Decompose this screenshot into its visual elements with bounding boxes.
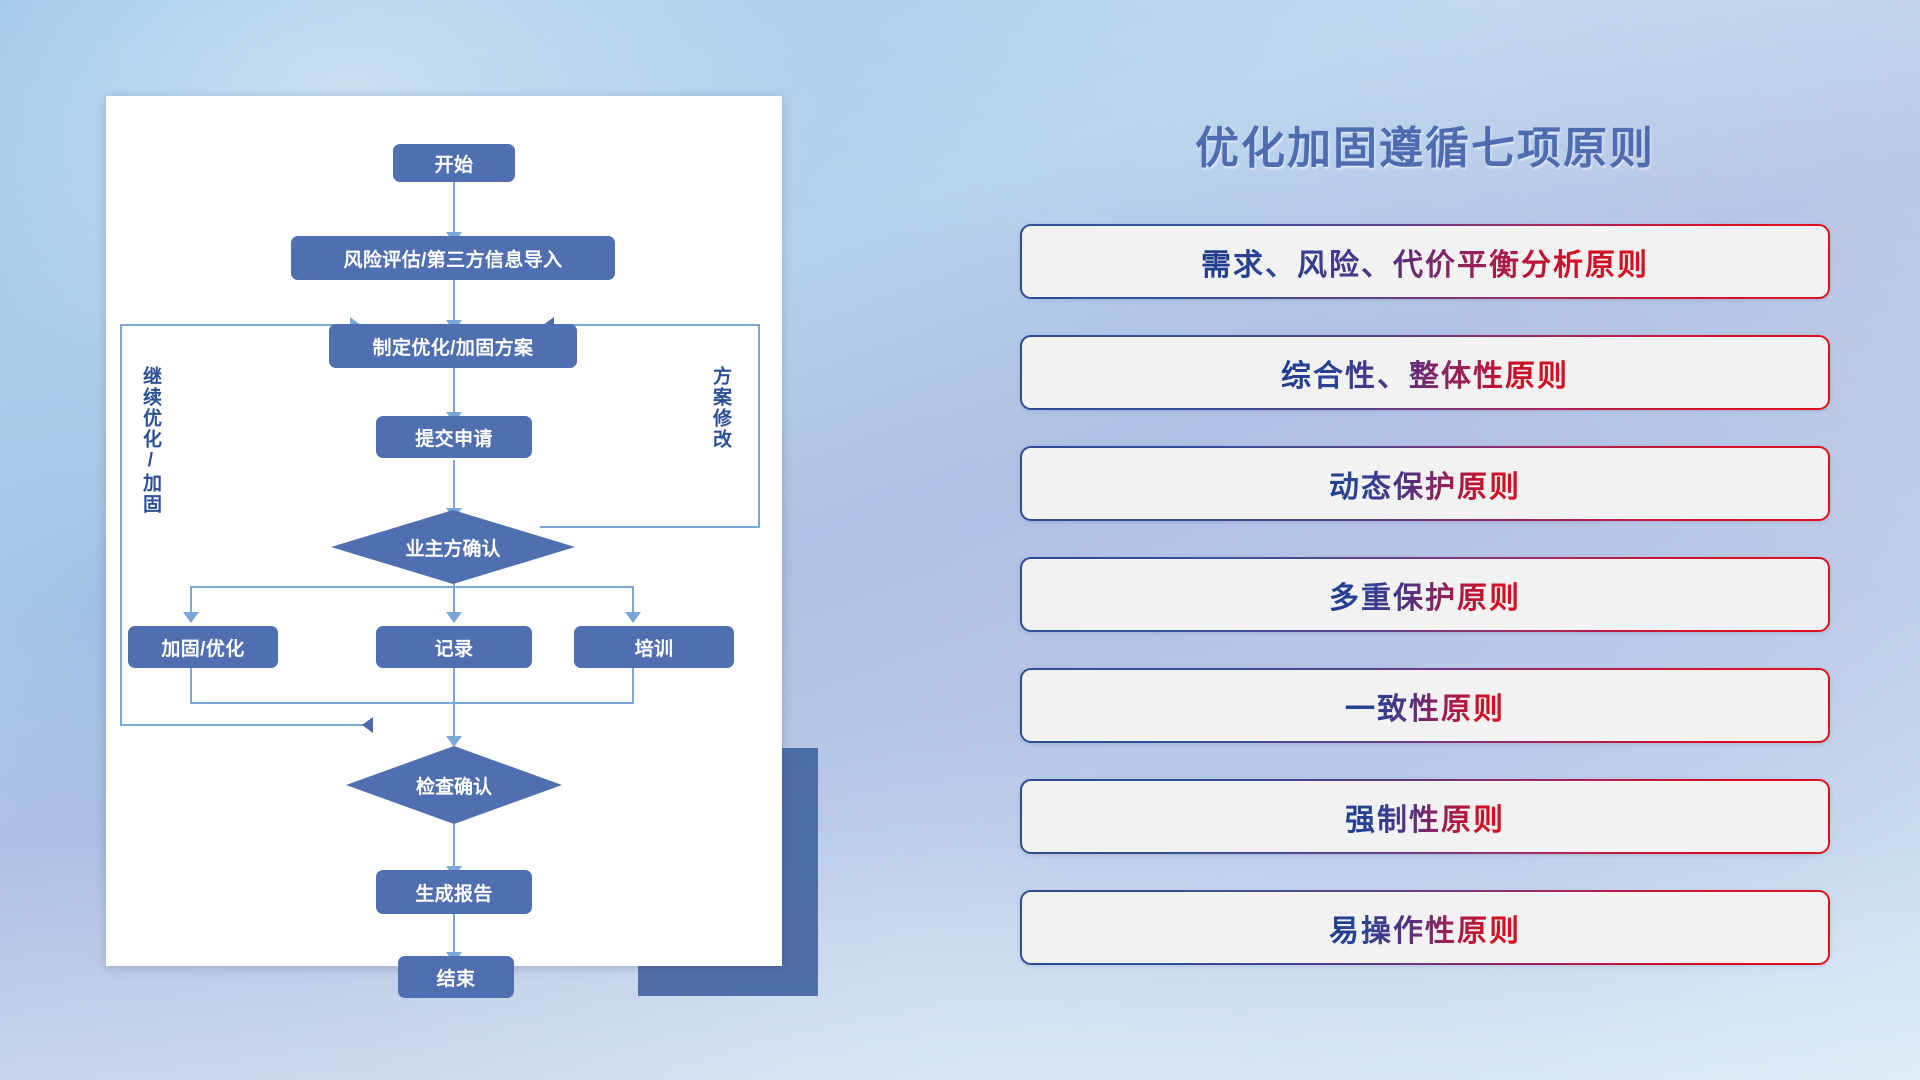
connector-start-to-risk xyxy=(453,180,455,236)
connector-left-to-plan xyxy=(120,324,352,326)
flow-node-label: 记录 xyxy=(435,634,474,661)
connector-submit-to-owner xyxy=(453,460,455,512)
flow-node-label: 提交申请 xyxy=(415,424,493,451)
connector-right-to-plan xyxy=(554,324,760,326)
flow-node-owner-confirm[interactable]: 业主方确认 xyxy=(331,510,575,584)
principle-card[interactable]: 一致性原则 xyxy=(1020,668,1830,743)
edge-label-continue-optimize: 继续优化/加固 xyxy=(140,366,160,515)
flow-node-risk-assessment[interactable]: 风险评估/第三方信息导入 xyxy=(291,236,615,280)
principles-list: 需求、风险、代价平衡分析原则 综合性、整体性原则 动态保护原则 多重保护原则 一… xyxy=(1020,224,1830,1001)
flow-node-label: 培训 xyxy=(635,634,674,661)
page-title: 优化加固遵循七项原则 xyxy=(1020,112,1830,176)
principle-label: 多重保护原则 xyxy=(1329,573,1521,617)
arrowhead-record xyxy=(446,612,462,623)
flow-node-label: 制定优化/加固方案 xyxy=(373,333,534,360)
flow-node-reinforce-optimize[interactable]: 加固/优化 xyxy=(128,626,278,668)
flow-node-start[interactable]: 开始 xyxy=(393,144,515,182)
connector-branch-bus xyxy=(190,586,634,588)
connector-check-left xyxy=(120,724,364,726)
principle-card[interactable]: 需求、风险、代价平衡分析原则 xyxy=(1020,224,1830,299)
flow-node-label: 加固/优化 xyxy=(161,634,244,661)
edge-label-plan-revision: 方案修改 xyxy=(710,366,730,450)
principle-label: 易操作性原则 xyxy=(1329,906,1521,950)
arrowhead-training xyxy=(625,612,641,623)
principle-card[interactable]: 综合性、整体性原则 xyxy=(1020,335,1830,410)
principle-label: 动态保护原则 xyxy=(1329,462,1521,506)
connector-right-up xyxy=(758,324,760,528)
principle-label: 一致性原则 xyxy=(1345,684,1505,728)
principle-label: 强制性原则 xyxy=(1345,795,1505,839)
connector-training-down xyxy=(632,666,634,704)
connector-merge-bus xyxy=(190,702,634,704)
connector-left-up xyxy=(120,324,122,724)
connector-check-to-report xyxy=(453,822,455,870)
flow-node-training[interactable]: 培训 xyxy=(574,626,734,668)
connector-plan-to-submit xyxy=(453,368,455,416)
flow-node-label: 结束 xyxy=(437,964,476,991)
principle-label: 综合性、整体性原则 xyxy=(1281,351,1569,395)
connector-risk-to-plan xyxy=(453,276,455,324)
principle-card[interactable]: 多重保护原则 xyxy=(1020,557,1830,632)
arrowhead-check-left xyxy=(362,717,373,733)
principle-label: 需求、风险、代价平衡分析原则 xyxy=(1201,240,1649,284)
connector-report-to-end xyxy=(453,914,455,956)
flow-node-label: 检查确认 xyxy=(416,772,492,799)
flow-node-submit-application[interactable]: 提交申请 xyxy=(376,416,532,458)
arrowhead-reinforce xyxy=(183,612,199,623)
connector-reinforce-down xyxy=(190,666,192,704)
flow-node-label: 开始 xyxy=(435,150,474,177)
flow-node-plan[interactable]: 制定优化/加固方案 xyxy=(329,324,577,368)
flow-node-end[interactable]: 结束 xyxy=(398,956,514,998)
flowchart-panel: 开始 风险评估/第三方信息导入 制定优化/加固方案 提交申请 业主方确认 加固/… xyxy=(106,96,782,966)
principles-panel: 优化加固遵循七项原则 需求、风险、代价平衡分析原则 综合性、整体性原则 动态保护… xyxy=(1020,96,1830,996)
principle-card[interactable]: 动态保护原则 xyxy=(1020,446,1830,521)
connector-merge-to-check xyxy=(453,702,455,740)
flow-node-check-confirm[interactable]: 检查确认 xyxy=(346,746,562,824)
flow-node-generate-report[interactable]: 生成报告 xyxy=(376,870,532,914)
principle-card[interactable]: 强制性原则 xyxy=(1020,779,1830,854)
flow-node-label: 业主方确认 xyxy=(405,534,500,561)
flow-node-label: 风险评估/第三方信息导入 xyxy=(343,245,562,272)
flow-node-label: 生成报告 xyxy=(415,879,493,906)
flow-node-record[interactable]: 记录 xyxy=(376,626,532,668)
principle-card[interactable]: 易操作性原则 xyxy=(1020,890,1830,965)
connector-record-down xyxy=(453,666,455,704)
